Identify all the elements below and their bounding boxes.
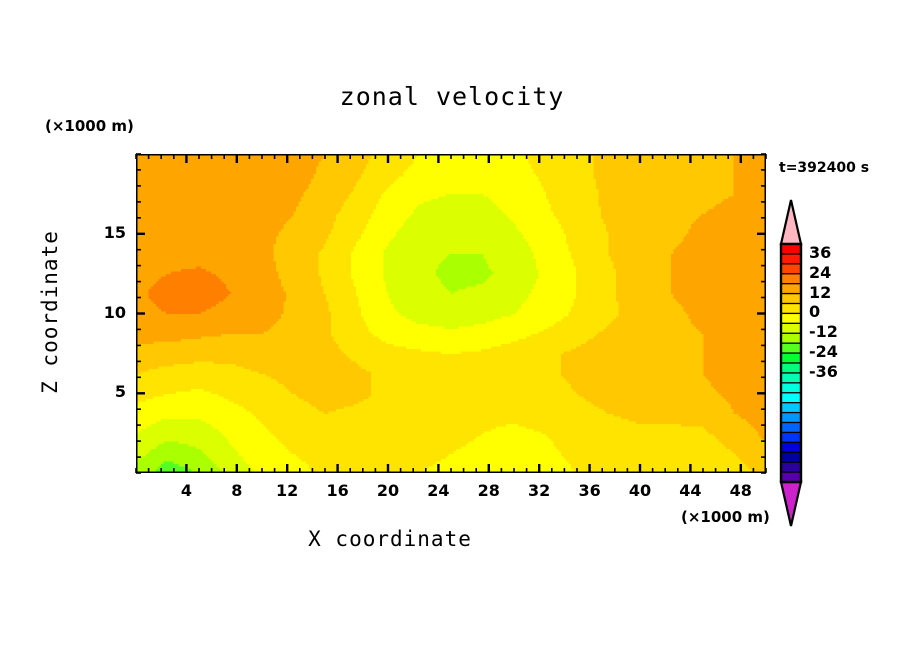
colorbar-tick-label: 36 [809, 243, 869, 262]
colorbar-tick-label: -12 [809, 322, 869, 341]
x-tick-label: 48 [711, 481, 771, 500]
colorbar-tick-label: 0 [809, 302, 869, 321]
contour-field [136, 154, 766, 473]
x-axis-title: X coordinate [0, 527, 780, 551]
y-axis-title: Z coordinate [38, 202, 62, 422]
y-tick-label: 15 [66, 223, 126, 242]
contour-plot-area [136, 154, 766, 473]
colorbar-tick-label: 12 [809, 283, 869, 302]
y-tick-label: 5 [66, 382, 126, 401]
colorbar-tick-label: -36 [809, 362, 869, 381]
colorbar-swatches [779, 198, 805, 528]
colorbar-tick-label: -24 [809, 342, 869, 361]
colorbar-tick-label: 24 [809, 263, 869, 282]
chart-title: zonal velocity [0, 82, 904, 111]
x-axis-unit-label: (×1000 m) [681, 508, 770, 526]
y-tick-label: 10 [66, 303, 126, 322]
figure-canvas: zonal velocity (×1000 m) (×1000 m) X coo… [0, 0, 904, 654]
timestamp-annotation: t=392400 s [779, 160, 869, 176]
y-axis-unit-label: (×1000 m) [45, 117, 134, 135]
colorbar [779, 198, 805, 528]
